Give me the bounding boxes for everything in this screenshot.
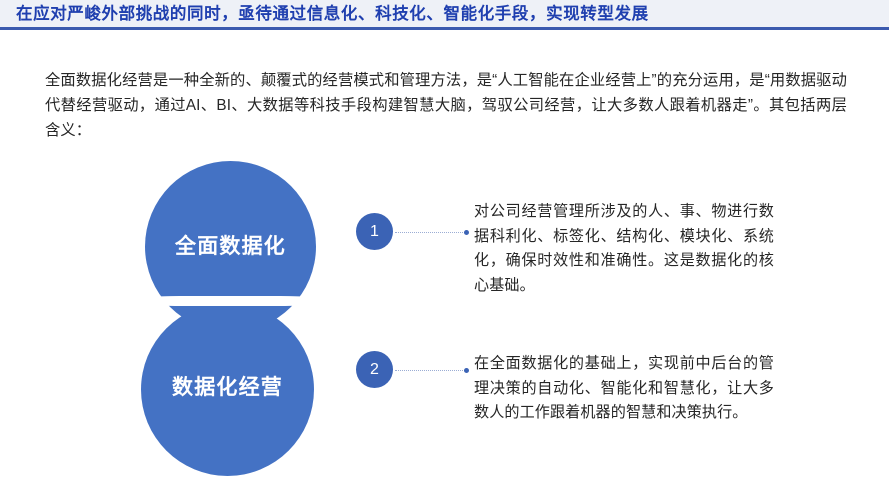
circle-label: 全面数据化 <box>175 230 286 260</box>
circle-separator <box>130 296 330 306</box>
detail-text-2: 在全面数据化的基础上，实现前中后台的管理决策的自动化、智能化和智慧化，让大多数人… <box>474 352 774 426</box>
circle-label: 数据化经营 <box>172 371 283 401</box>
number-badge-2: 2 <box>356 351 393 388</box>
connector-line-2 <box>395 370 467 372</box>
connector-dot-1 <box>464 230 469 235</box>
connector-line-1 <box>395 232 467 234</box>
number-badge-1: 1 <box>356 213 393 250</box>
detail-text-1: 对公司经营管理所涉及的人、事、物进行数据科利化、标签化、结构化、模块化、系统化，… <box>474 200 774 298</box>
header-band: 在应对严峻外部挑战的同时，亟待通过信息化、科技化、智能化手段，实现转型发展 <box>0 0 889 30</box>
connector-dot-2 <box>464 368 469 373</box>
circle-shujuhua-jingying: 数据化经营 <box>141 303 314 476</box>
intro-paragraph: 全面数据化经营是一种全新的、颠覆式的经营模式和管理方法，是“人工智能在企业经营上… <box>45 68 847 143</box>
page-title: 在应对严峻外部挑战的同时，亟待通过信息化、科技化、智能化手段，实现转型发展 <box>16 3 649 25</box>
